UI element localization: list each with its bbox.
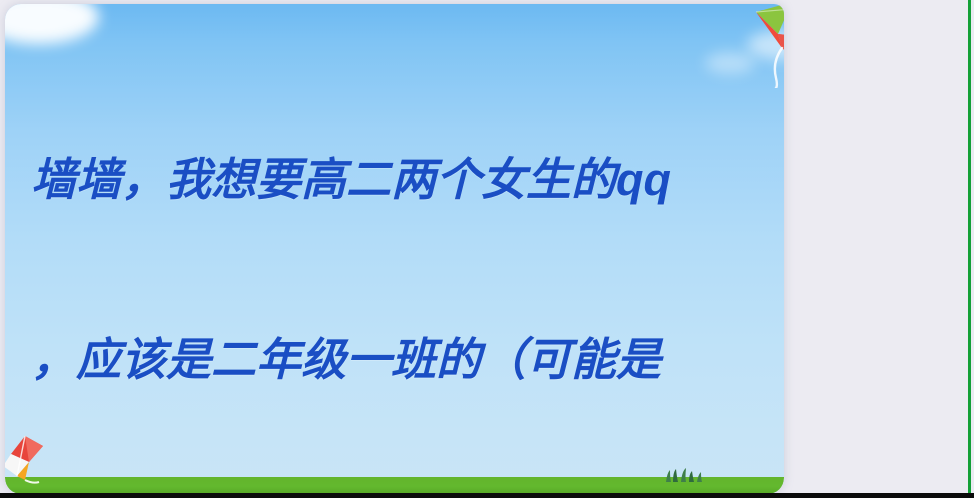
text-line: 墙墙，我想要高二两个女生的qq [31,150,771,210]
bottom-black-bar [0,493,974,498]
text-line: ，应该是二年级一班的（可能是 [31,330,771,390]
screenshot-frame: 墙墙，我想要高二两个女生的qq ，应该是二年级一班的（可能是 创心二班），经常在… [0,0,974,498]
right-edge-rule [968,0,971,498]
confession-text: 墙墙，我想要高二两个女生的qq ，应该是二年级一班的（可能是 创心二班），经常在… [31,30,771,494]
confession-card: 墙墙，我想要高二两个女生的qq ，应该是二年级一班的（可能是 创心二班），经常在… [5,4,784,494]
